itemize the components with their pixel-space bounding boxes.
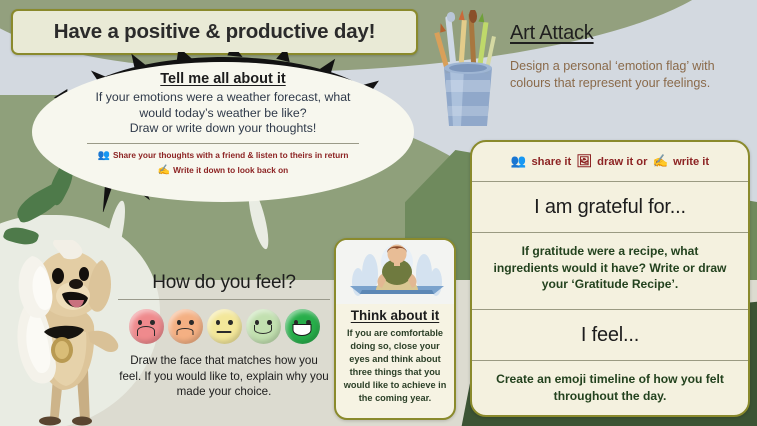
how-do-you-feel-title: How do you feel? xyxy=(118,272,330,294)
people-talking-icon: 👥 xyxy=(511,154,527,169)
speech-bubble-question-line-2: would today’s weather be like? xyxy=(139,106,306,122)
face-pleased-icon[interactable] xyxy=(246,309,281,344)
speech-bubble-divider xyxy=(87,143,359,144)
speech-bubble-action-share-label: Share your thoughts with a friend & list… xyxy=(113,149,349,161)
writing-hand-icon: ✍ xyxy=(652,154,668,169)
activity-action-share-label: share it xyxy=(531,156,571,168)
writing-hand-icon: ✍ xyxy=(158,163,170,178)
activity-action-draw-label: draw it or xyxy=(597,156,647,168)
speech-bubble-content: Tell me all about it If your emotions we… xyxy=(32,62,414,202)
face-happy-icon[interactable] xyxy=(285,309,320,344)
speech-bubble-question-line-1: If your emotions were a weather forecast… xyxy=(96,90,351,106)
dog-illustration xyxy=(10,240,125,426)
framed-picture-icon: 🖼 xyxy=(576,154,592,169)
speech-bubble-question-line-3: Draw or write down your thoughts! xyxy=(130,121,317,137)
poster-canvas: Have a positive & productive day! xyxy=(0,0,757,426)
activity-heading-feel: I feel... xyxy=(472,310,748,360)
think-about-it-card: Think about it If you are comfortable do… xyxy=(334,238,456,420)
speech-bubble-action-write-label: Write it down to look back on xyxy=(173,164,288,176)
speech-bubble-action-share: 👥 Share your thoughts with a friend & li… xyxy=(97,148,348,163)
face-sad-icon[interactable] xyxy=(129,309,164,344)
activity-heading-grateful: I am grateful for... xyxy=(472,182,748,232)
how-do-you-feel-section: How do you feel? Draw the face that matc… xyxy=(118,272,330,400)
how-do-you-feel-description: Draw the face that matches how you feel.… xyxy=(118,353,330,400)
page-title: Have a positive & productive day! xyxy=(54,20,376,44)
think-about-it-title: Think about it xyxy=(336,308,454,323)
people-talking-icon: 👥 xyxy=(97,148,109,163)
how-do-you-feel-divider xyxy=(118,299,330,300)
headline-banner: Have a positive & productive day! xyxy=(11,9,418,55)
speech-bubble: Tell me all about it If your emotions we… xyxy=(18,52,430,242)
art-attack-title: Art Attack xyxy=(510,22,594,45)
speech-bubble-action-write: ✍ Write it down to look back on xyxy=(158,163,289,178)
face-neutral-icon[interactable] xyxy=(207,309,242,344)
activity-body-grateful: If gratitude were a recipe, what ingredi… xyxy=(472,233,748,309)
activity-card: 👥 share it 🖼 draw it or ✍ write it I am … xyxy=(470,140,750,417)
meditating-person-icon xyxy=(336,240,454,304)
speech-bubble-title: Tell me all about it xyxy=(160,71,285,87)
activity-action-write-label: write it xyxy=(673,156,709,168)
think-about-it-description: If you are comfortable doing so, close y… xyxy=(336,323,454,405)
activity-card-actions: 👥 share it 🖼 draw it or ✍ write it xyxy=(472,142,748,181)
art-attack-description: Design a personal ‘emotion flag’ with co… xyxy=(510,58,738,93)
emotion-face-row xyxy=(118,309,330,344)
face-unhappy-icon[interactable] xyxy=(168,309,203,344)
activity-body-feel: Create an emoji timeline of how you felt… xyxy=(472,361,748,414)
art-attack-section: Art Attack Design a personal ‘emotion fl… xyxy=(434,8,749,136)
pencil-cup-icon xyxy=(434,10,502,130)
